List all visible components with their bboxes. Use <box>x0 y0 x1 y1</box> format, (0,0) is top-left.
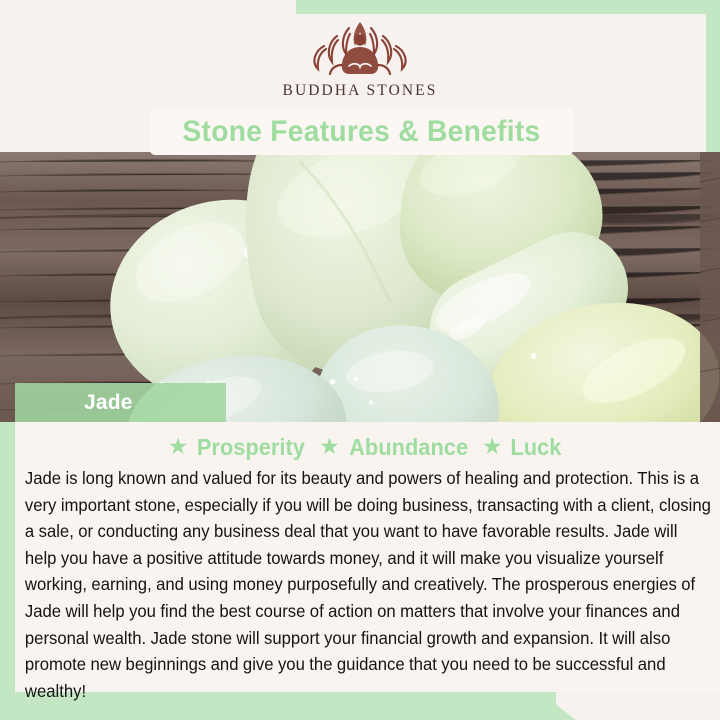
benefit-item-luck: ★ Luck <box>482 434 562 461</box>
page-title-banner: Stone Features & Benefits <box>150 108 573 155</box>
benefit-label: Abundance <box>349 434 468 461</box>
star-icon: ★ <box>482 435 503 458</box>
page-title: Stone Features & Benefits <box>182 115 540 149</box>
stone-photo <box>0 152 720 422</box>
decor-green-left-strip <box>0 374 15 720</box>
content-panel: ★ Prosperity ★ Abundance ★ Luck Jade is … <box>15 422 720 692</box>
infographic-page: BUDDHA STONES Stone Features & Benefits <box>0 0 720 720</box>
star-icon: ★ <box>319 435 340 458</box>
stone-photo-illustration <box>0 152 720 422</box>
benefit-label: Prosperity <box>197 434 305 461</box>
benefits-row: ★ Prosperity ★ Abundance ★ Luck <box>22 432 708 462</box>
brand-name: BUDDHA STONES <box>283 82 438 100</box>
brand-logo: BUDDHA STONES <box>0 14 720 110</box>
benefit-item-prosperity: ★ Prosperity <box>168 434 308 461</box>
stone-name: Jade <box>84 391 133 415</box>
benefit-item-abundance: ★ Abundance <box>319 434 471 461</box>
stone-description: Jade is long known and valued for its be… <box>22 465 715 704</box>
stone-name-band: Jade <box>15 383 226 422</box>
star-icon: ★ <box>168 435 189 458</box>
lotus-meditation-icon <box>297 14 423 80</box>
benefit-label: Luck <box>510 434 561 461</box>
decor-green-top-right <box>296 0 720 14</box>
